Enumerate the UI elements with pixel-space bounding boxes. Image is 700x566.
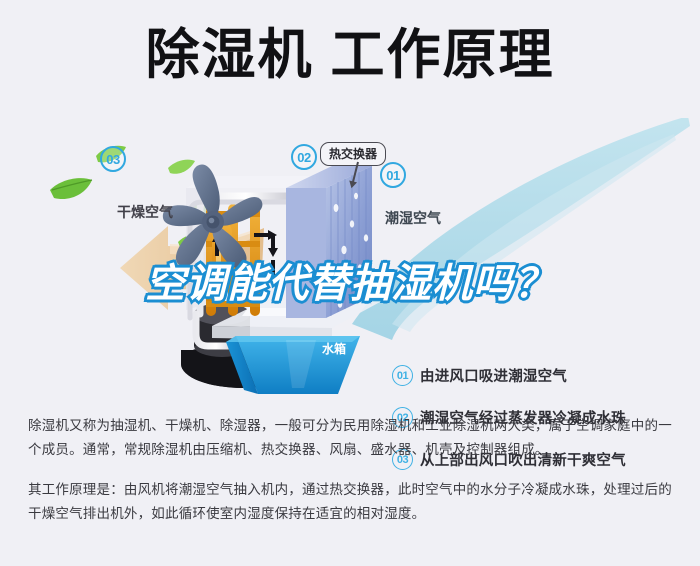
water-tank-label: 水箱 <box>322 340 346 357</box>
moist-air-label: 潮湿空气 <box>385 208 441 228</box>
badge-03-dry-air: 03 <box>100 146 126 172</box>
legend-item: 01 由进风口吸进潮湿空气 <box>392 365 692 386</box>
heat-exchanger-callout: 热交换器 <box>320 142 386 166</box>
dry-air-label: 干燥空气 <box>117 202 173 222</box>
body-paragraph: 其工作原理是：由风机将潮湿空气抽入机内，通过热交换器，此时空气中的水分子冷凝成水… <box>28 478 676 526</box>
page-root: 除湿机 工作原理 <box>0 0 700 566</box>
article-body: 除湿机又称为抽湿机、干燥机、除湿器，一般可分为民用除湿机和工业除湿机两大类，属于… <box>28 414 676 526</box>
dehumidifier-diagram: 03 02 01 热交换器 干燥空气 潮湿空气 水箱 01 由进风口吸进潮湿空气… <box>0 118 700 403</box>
legend-number: 01 <box>392 365 413 386</box>
body-paragraph: 除湿机又称为抽湿机、干燥机、除湿器，一般可分为民用除湿机和工业除湿机两大类，属于… <box>28 414 676 462</box>
page-title: 除湿机 工作原理 <box>0 28 700 82</box>
badge-02-heat-exchanger: 02 <box>291 144 317 170</box>
badge-01-moist-air: 01 <box>380 162 406 188</box>
legend-label: 由进风口吸进潮湿空气 <box>420 365 567 386</box>
evaporator-block <box>286 166 372 318</box>
page-title-text: 除湿机 工作原理 <box>145 28 554 82</box>
